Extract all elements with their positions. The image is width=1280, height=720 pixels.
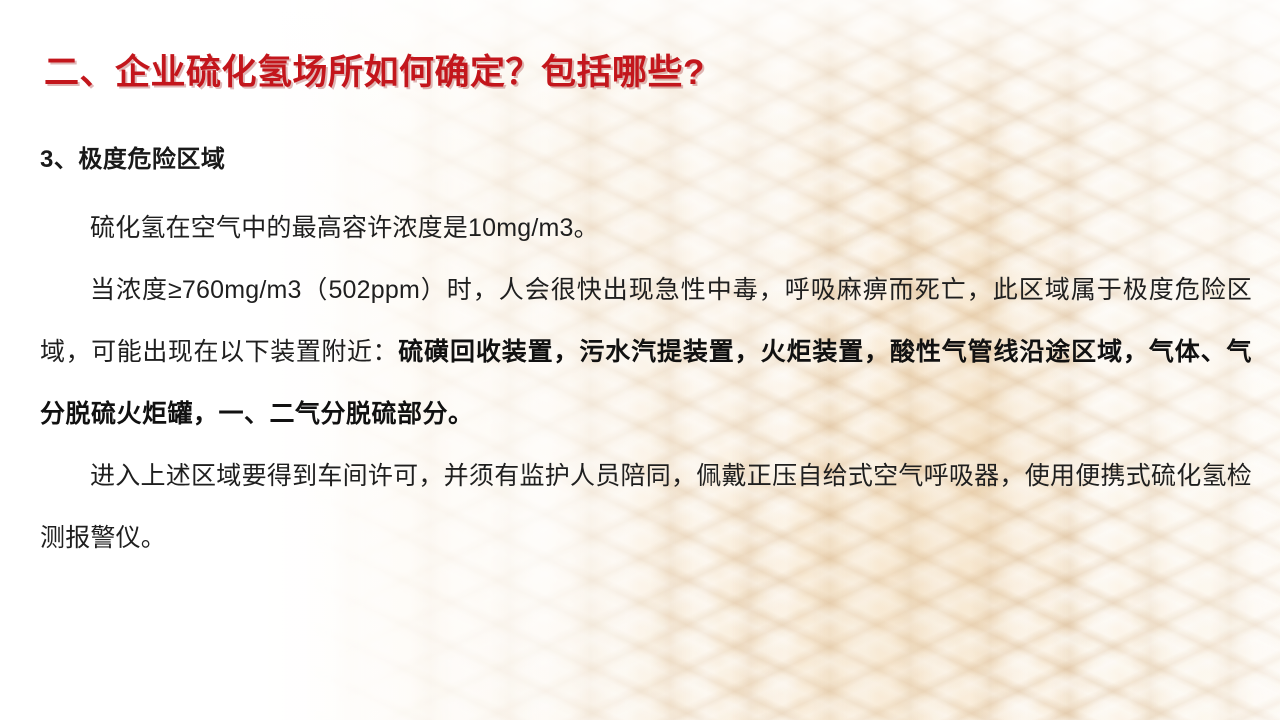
section-sub-heading: 3、极度危险区域 (40, 139, 225, 174)
paragraph-extreme-danger: 当浓度≥760mg/m3（502ppm）时，人会很快出现急性中毒，呼吸麻痹而死亡… (40, 259, 1252, 445)
body-text-block: 硫化氢在空气中的最高容许浓度是10mg/m3。 当浓度≥760mg/m3（502… (40, 197, 1252, 569)
slide-content: 二、企业硫化氢场所如何确定？包括哪些? 3、极度危险区域 硫化氢在空气中的最高容… (0, 0, 1280, 720)
paragraph-entry-requirements: 进入上述区域要得到车间许可，并须有监护人员陪同，佩戴正压自给式空气呼吸器，使用便… (40, 445, 1252, 569)
paragraph-concentration-limit: 硫化氢在空气中的最高容许浓度是10mg/m3。 (40, 197, 1252, 259)
slide-canvas: 二、企业硫化氢场所如何确定？包括哪些? 3、极度危险区域 硫化氢在空气中的最高容… (0, 0, 1280, 720)
slide-title: 二、企业硫化氢场所如何确定？包括哪些? (44, 54, 705, 93)
